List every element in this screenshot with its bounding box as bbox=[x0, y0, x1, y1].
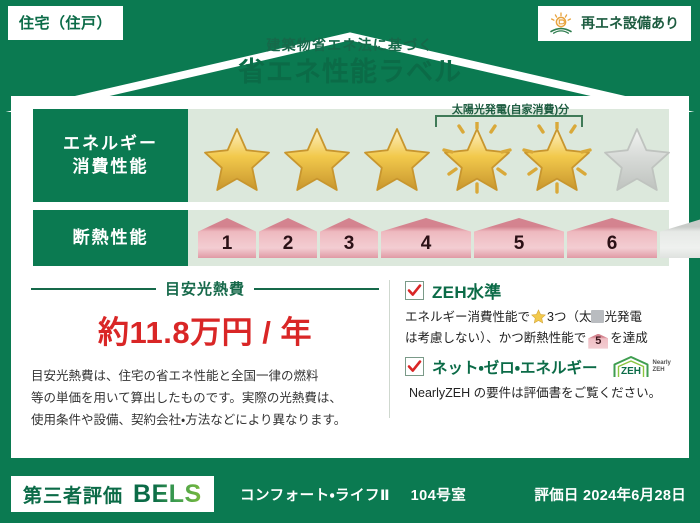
net-zero-energy-checkbox[interactable] bbox=[405, 357, 424, 376]
star-3 bbox=[358, 122, 436, 196]
zeh-house-icon: ZEH bbox=[611, 355, 651, 379]
disclaimer-line-1: 目安光熱費は、住宅の省エネ性能と全国一律の燃料 bbox=[31, 366, 381, 388]
check-icon bbox=[407, 283, 422, 298]
energy-label-line1: エネルギー bbox=[63, 133, 158, 156]
zeh-body-part4: を達成 bbox=[610, 331, 648, 345]
energy-performance-label: エネルギー 消費性能 bbox=[33, 109, 188, 202]
svg-text:ZEH: ZEH bbox=[621, 366, 641, 377]
net-zero-energy-head: ネット・ゼロ・エネルギー ZEH Nearly ZEH bbox=[405, 355, 673, 379]
bels-wordmark: BELS bbox=[133, 480, 202, 509]
star-6 bbox=[598, 122, 676, 196]
star-2 bbox=[278, 122, 356, 196]
star-list bbox=[198, 122, 676, 196]
sun-icon bbox=[548, 12, 574, 34]
insulation-chip-6: 6 bbox=[567, 218, 657, 258]
footer-bar: 第三者評価 BELS コンフォート・ライフⅡ 104号室 評価日 2024年6月… bbox=[0, 467, 700, 523]
solar-generation-note: 太陽光発電(自家消費)分 bbox=[393, 101, 628, 117]
housing-type-tag: 住宅（住戸） bbox=[8, 6, 123, 40]
star-icon bbox=[603, 126, 671, 192]
utility-cost-amount: 約11.8万円 / 年 bbox=[31, 307, 379, 352]
zeh-nearly-text: Nearly ZEH bbox=[653, 360, 671, 373]
label-title: 建築物省エネ法に基づく 省エネ性能ラベル bbox=[0, 38, 700, 90]
zeh-nearly-line1: Nearly bbox=[653, 360, 671, 366]
star-icon bbox=[363, 126, 431, 192]
building-identity: コンフォート・ライフⅡ 104号室 bbox=[240, 484, 466, 505]
zeh-level-body: エネルギー消費性能で3つ（太光発電は考慮しない）、かつ断熱性能で5を達成 bbox=[405, 307, 673, 349]
utility-cost-disclaimer: 目安光熱費は、住宅の省エネ性能と全国一律の燃料 等の単価を用いて算出したものです… bbox=[31, 366, 381, 432]
renewable-equipment-badge: 再エネ設備あり bbox=[538, 6, 691, 41]
star-icon bbox=[203, 126, 271, 192]
insulation-grade-scale: 1234567 bbox=[188, 210, 700, 266]
body-card: エネルギー 消費性能 太陽光発電(自家消費)分 断熱性能 1234567 目安光… bbox=[11, 96, 689, 458]
lower-section: 目安光熱費 約11.8万円 / 年 目安光熱費は、住宅の省エネ性能と全国一律の燃… bbox=[11, 278, 689, 458]
insulation-performance-label: 断熱性能 bbox=[33, 210, 188, 266]
star-1 bbox=[198, 122, 276, 196]
insulation-chip-7: 7 bbox=[660, 218, 700, 258]
insulation-chip-3: 3 bbox=[320, 218, 378, 258]
unit-number: 104号室 bbox=[411, 488, 467, 504]
zeh-body-part3: は考慮しない）、かつ断熱性能で bbox=[405, 331, 586, 345]
disclaimer-line-2: 等の単価を用いて算出したものです。実際の光熱費は、 bbox=[31, 388, 381, 410]
check-icon bbox=[407, 359, 422, 374]
check-item-net-zero-energy: ネット・ゼロ・エネルギー ZEH Nearly ZEH bbox=[405, 355, 673, 404]
inline-star-icon bbox=[531, 309, 546, 324]
heading-rule-right bbox=[254, 288, 379, 290]
zeh-level-head: ZEH水準 bbox=[405, 278, 673, 303]
insulation-chip-1: 1 bbox=[198, 218, 256, 258]
insulation-chip-2: 2 bbox=[259, 218, 317, 258]
zeh-level-checkbox[interactable] bbox=[405, 281, 424, 300]
net-zero-energy-title: ネット・ゼロ・エネルギー bbox=[432, 356, 598, 378]
zeh-level-title: ZEH水準 bbox=[432, 278, 502, 303]
utility-cost-block: 目安光熱費 約11.8万円 / 年 bbox=[31, 278, 379, 352]
chip-list: 1234567 bbox=[198, 218, 700, 258]
star-4 bbox=[438, 122, 516, 196]
zeh-body-part2: 光発電 bbox=[604, 310, 642, 324]
zeh-body-part1: エネルギー消費性能で bbox=[405, 310, 530, 324]
zeh-nearly-line2: ZEH bbox=[653, 367, 665, 373]
renewable-badge-label: 再エネ設備あり bbox=[581, 13, 679, 33]
star-5 bbox=[518, 122, 596, 196]
heading-rule-left bbox=[31, 288, 156, 290]
insulation-chip-5: 5 bbox=[474, 218, 564, 258]
third-party-evaluation-label: 第三者評価 bbox=[23, 481, 123, 508]
solar-sparkle-icon bbox=[518, 122, 596, 196]
redacted-character bbox=[591, 310, 604, 323]
insulation-chip-4: 4 bbox=[381, 218, 471, 258]
zeh-body-stars: 3つ（太 bbox=[547, 310, 591, 324]
title-main: 省エネ性能ラベル bbox=[0, 56, 700, 90]
evaluation-date: 評価日 2024年6月28日 bbox=[534, 484, 686, 505]
zeh-logo: ZEH Nearly ZEH bbox=[611, 355, 671, 379]
utility-cost-heading-label: 目安光熱費 bbox=[165, 278, 245, 299]
insulation-performance-row: 断熱性能 1234567 bbox=[33, 210, 669, 266]
bels-plate: 第三者評価 BELS bbox=[11, 476, 214, 512]
utility-cost-heading: 目安光熱費 bbox=[31, 278, 379, 299]
check-item-zeh-level: ZEH水準 エネルギー消費性能で3つ（太光発電は考慮しない）、かつ断熱性能で5を… bbox=[405, 278, 673, 349]
energy-performance-row: エネルギー 消費性能 太陽光発電(自家消費)分 bbox=[33, 109, 669, 202]
disclaimer-line-3: 使用条件や設備、契約会社・方法などにより異なります。 bbox=[31, 410, 381, 432]
star-icon bbox=[283, 126, 351, 192]
certification-checklist: ZEH水準 エネルギー消費性能で3つ（太光発電は考慮しない）、かつ断熱性能で5を… bbox=[405, 278, 673, 409]
inline-insulation-chip: 5 bbox=[588, 334, 608, 349]
energy-label-line2: 消費性能 bbox=[73, 156, 149, 179]
building-name: コンフォート・ライフⅡ bbox=[240, 488, 390, 504]
solar-sparkle-icon bbox=[438, 122, 516, 196]
energy-star-rating: 太陽光発電(自家消費)分 bbox=[188, 109, 676, 202]
vertical-divider bbox=[389, 280, 390, 418]
net-zero-energy-body: NearlyZEH の要件は評価書をご覧ください。 bbox=[405, 383, 673, 404]
energy-performance-label: 住宅（住戸） 再エネ設備あり 建築物省エネ法に基づく 省エネ性能ラベル エネルギ… bbox=[0, 0, 700, 523]
